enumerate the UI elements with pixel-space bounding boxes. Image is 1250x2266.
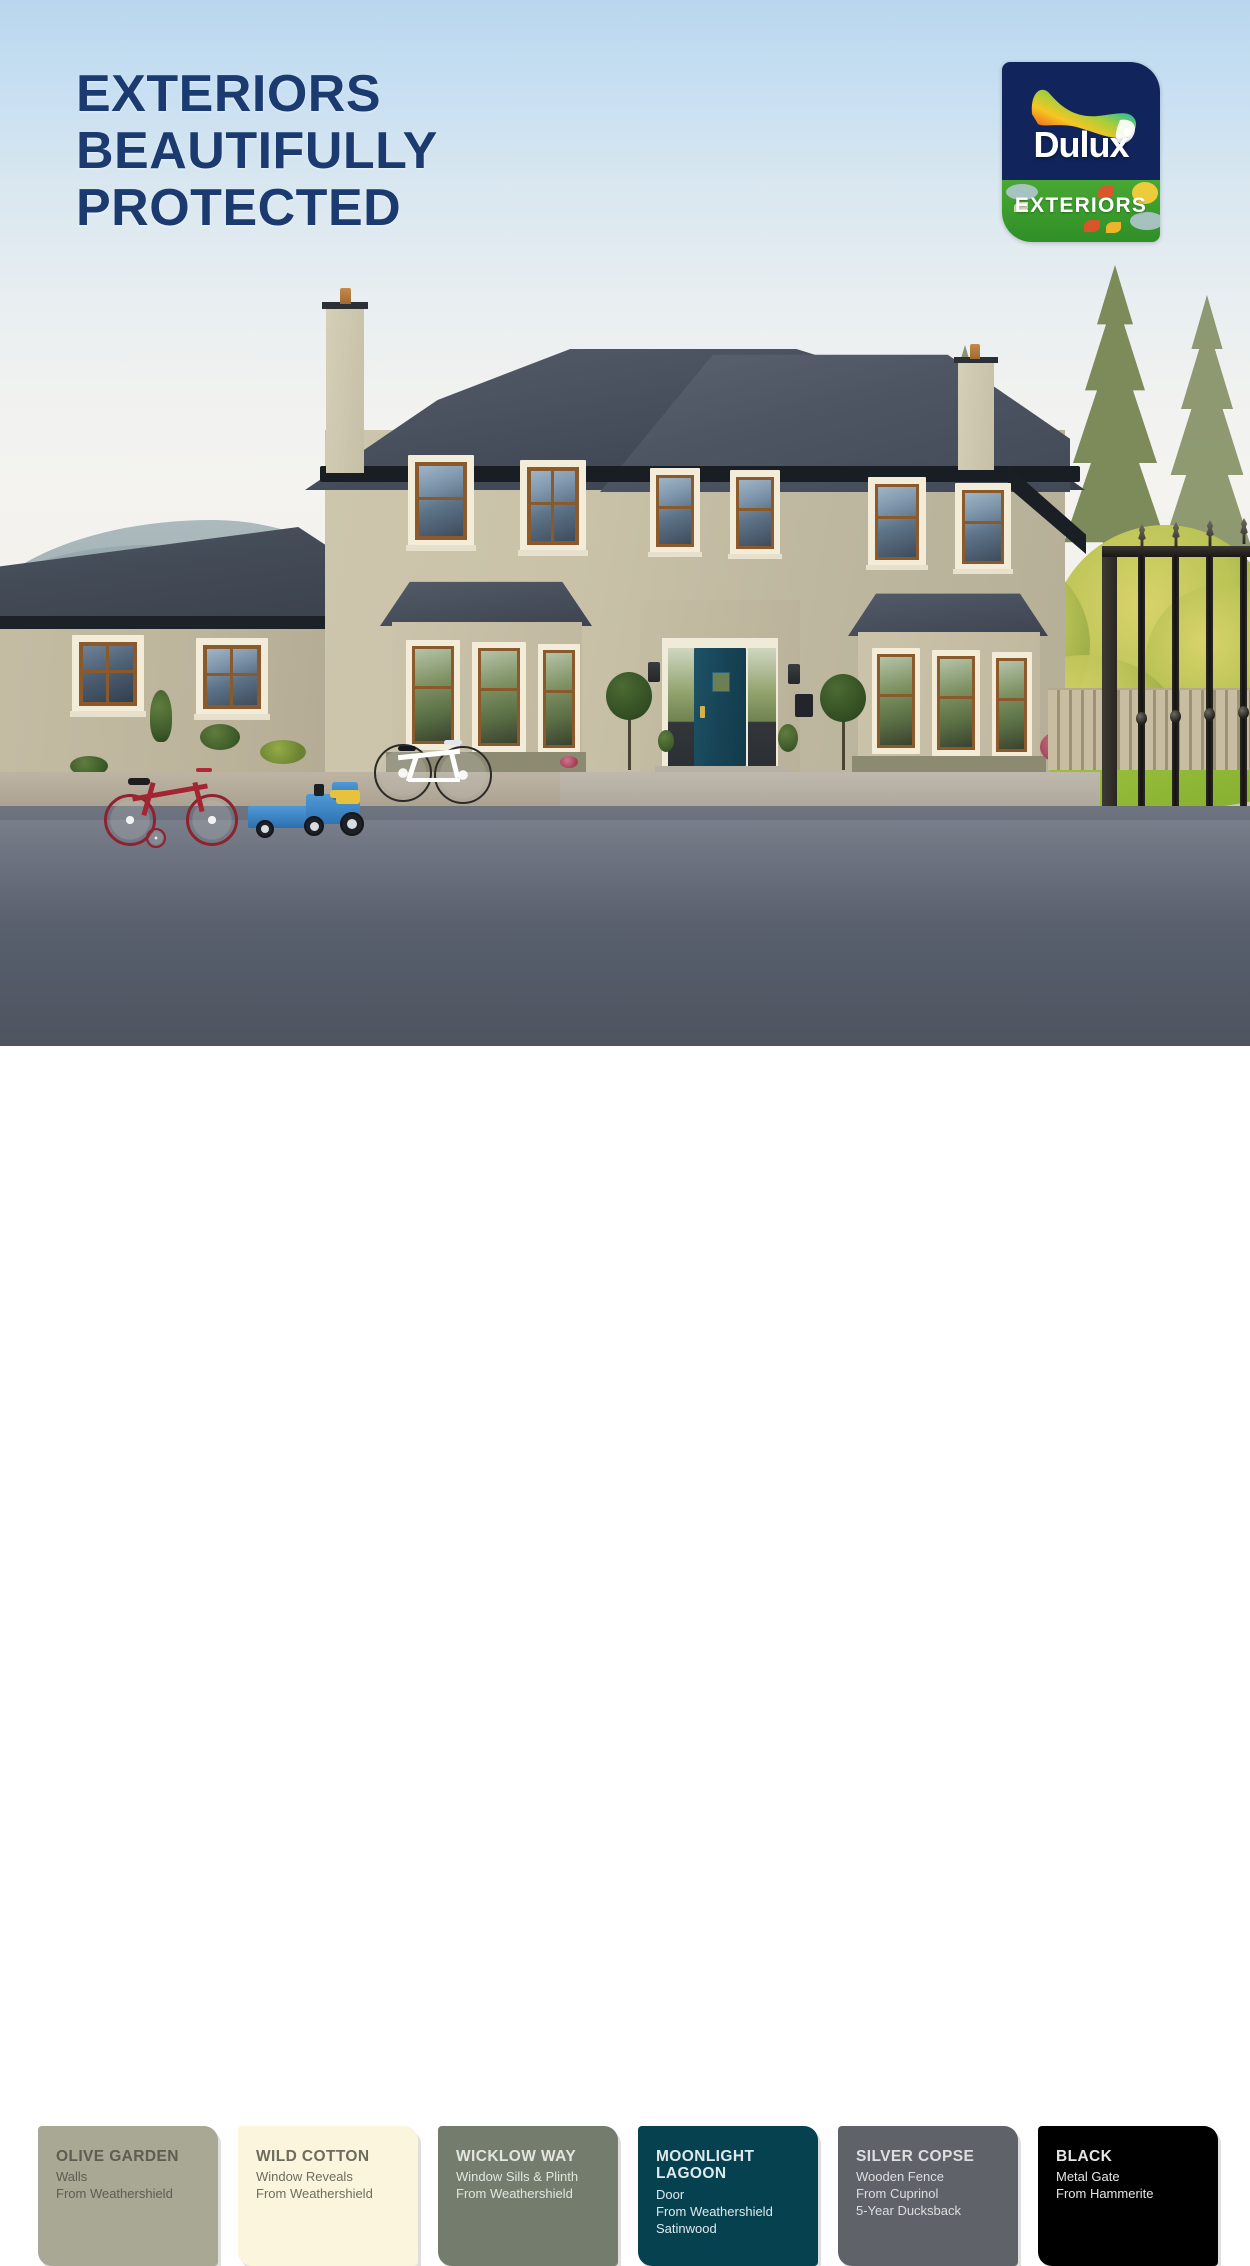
window-glass xyxy=(739,480,771,546)
hero-photo: EXTERIORS BEAUTIFULLY PROTECTED D xyxy=(0,0,1250,1046)
window-mullion xyxy=(551,471,554,541)
window-glass xyxy=(940,659,972,747)
window-mullion xyxy=(659,506,691,509)
training-wheel xyxy=(146,828,166,848)
window-glass xyxy=(415,649,451,741)
gate-knob xyxy=(1238,706,1249,719)
ground-shrub xyxy=(260,740,306,764)
letterbox xyxy=(795,694,813,717)
road-bike-saddle xyxy=(398,746,416,751)
driveway-highlight xyxy=(0,820,1250,930)
bay-roof-left xyxy=(380,578,592,626)
window-mullion xyxy=(940,696,972,699)
porch-lamp-right xyxy=(788,664,800,684)
swatch-name: MOONLIGHT LAGOON xyxy=(656,2148,818,2183)
chimney-right xyxy=(958,360,994,470)
swatch-detail: Walls xyxy=(56,2169,218,2186)
window-sill xyxy=(518,550,588,556)
window-mullion xyxy=(739,508,771,511)
gate-knob xyxy=(1170,710,1181,723)
colour-swatch-strip: OLIVE GARDEN Walls From Weathershield WI… xyxy=(0,1046,1250,1250)
bay-roof-right xyxy=(848,590,1048,636)
gate-finial xyxy=(1170,522,1182,548)
swatch-detail: Satinwood xyxy=(656,2221,818,2238)
swatch-detail: From Cuprinol xyxy=(856,2186,1018,2203)
window-sill xyxy=(953,569,1013,574)
window-mullion xyxy=(999,698,1024,701)
swatch-name: WICKLOW WAY xyxy=(456,2148,618,2165)
leaf-icon xyxy=(1084,220,1100,232)
door-sidelight-right xyxy=(748,648,776,766)
gate-finial xyxy=(1238,518,1250,544)
window-sill xyxy=(70,711,146,717)
swatch-detail: From Hammerite xyxy=(1056,2186,1218,2203)
swatch-detail: Wooden Fence xyxy=(856,2169,1018,2186)
toy-scoop xyxy=(336,790,360,804)
swatch-detail: From Weathershield xyxy=(456,2186,618,2203)
leaf-icon xyxy=(1106,222,1121,233)
window-mullion xyxy=(106,646,109,702)
window-glass xyxy=(880,657,912,745)
swatch-name: WILD COTTON xyxy=(256,2148,418,2165)
swatch-name: OLIVE GARDEN xyxy=(56,2148,218,2165)
window-mullion xyxy=(83,670,133,673)
gate-knob xyxy=(1136,712,1147,725)
window-sill xyxy=(194,714,270,720)
swatch-moonlight-lagoon[interactable]: MOONLIGHT LAGOON Door From Weathershield… xyxy=(638,2126,818,2266)
window-mullion xyxy=(880,694,912,697)
window-mullion xyxy=(207,673,257,676)
headline-line-1: EXTERIORS xyxy=(76,66,438,123)
swatch-detail: Window Reveals xyxy=(256,2169,418,2186)
gate-knob xyxy=(1204,708,1215,721)
swatch-olive-garden[interactable]: OLIVE GARDEN Walls From Weathershield xyxy=(38,2126,218,2266)
window-glass xyxy=(999,661,1024,749)
door-handle xyxy=(700,706,705,718)
flower-cluster xyxy=(560,756,578,768)
logo-wordmark: Dulux xyxy=(1002,124,1160,166)
tractor-seat xyxy=(314,784,324,796)
window-sill xyxy=(728,554,782,559)
bike-saddle xyxy=(128,778,150,785)
swatch-name: BLACK xyxy=(1056,2148,1218,2165)
logo-range-label: EXTERIORS xyxy=(1002,194,1160,218)
window-sill xyxy=(406,545,476,551)
window-mullion xyxy=(230,649,233,705)
tractor-hub xyxy=(347,819,357,829)
dulux-logo[interactable]: Dulux EXTERIORS xyxy=(1002,62,1160,242)
window-mullion xyxy=(965,521,1001,524)
window-glass xyxy=(546,653,572,745)
window-mullion xyxy=(546,690,572,693)
road-bike-handlebar xyxy=(444,740,462,745)
road-bike-chainstay xyxy=(408,778,460,782)
gate-finial xyxy=(1204,520,1216,546)
bike-wheel xyxy=(186,794,238,846)
swatch-detail: From Weathershield xyxy=(56,2186,218,2203)
left-wing-fascia xyxy=(0,616,352,629)
window-mullion xyxy=(878,516,916,519)
topiary-ball-left xyxy=(606,672,652,720)
swatch-name: SILVER COPSE xyxy=(856,2148,1018,2165)
swatch-detail: Metal Gate xyxy=(1056,2169,1218,2186)
trailer-hub xyxy=(261,825,269,833)
porch-lamp-left xyxy=(648,662,660,682)
small-shrub xyxy=(778,724,798,752)
chimney-left xyxy=(326,305,364,473)
page-headline: EXTERIORS BEAUTIFULLY PROTECTED xyxy=(76,66,438,238)
tractor-hub xyxy=(310,822,319,831)
swatch-detail: Window Sills & Plinth xyxy=(456,2169,618,2186)
window-glass xyxy=(965,493,1001,561)
window-mullion xyxy=(481,688,517,691)
conifer-shrub xyxy=(150,690,172,742)
window-glass xyxy=(878,487,916,557)
window-glass xyxy=(659,478,691,544)
swatch-wild-cotton[interactable]: WILD COTTON Window Reveals From Weathers… xyxy=(238,2126,418,2266)
window-glass xyxy=(419,466,463,536)
window-sill xyxy=(648,552,702,557)
topiary-ball-right xyxy=(820,674,866,722)
door-glass-panel xyxy=(712,672,730,692)
swatch-detail: From Weathershield xyxy=(656,2204,818,2221)
small-shrub xyxy=(658,730,674,752)
window-mullion xyxy=(531,502,575,505)
swatch-black[interactable]: BLACK Metal Gate From Hammerite xyxy=(1038,2126,1218,2266)
window-glass xyxy=(481,651,517,743)
swatch-detail: 5-Year Ducksback xyxy=(856,2203,1018,2220)
swatch-detail: From Weathershield xyxy=(256,2186,418,2203)
headline-line-2: BEAUTIFULLY xyxy=(76,123,438,180)
window-sill xyxy=(866,565,928,570)
topiary-stem xyxy=(628,712,631,770)
swatch-detail: Door xyxy=(656,2187,818,2204)
swatch-wicklow-way[interactable]: WICKLOW WAY Window Sills & Plinth From W… xyxy=(438,2126,618,2266)
bike-handlebar xyxy=(196,768,212,772)
topiary-stem xyxy=(842,714,845,770)
ground-shrub xyxy=(200,724,240,750)
swatch-silver-copse[interactable]: SILVER COPSE Wooden Fence From Cuprinol … xyxy=(838,2126,1018,2266)
chimney-pot xyxy=(340,288,351,304)
door-sidelight-left xyxy=(668,648,696,766)
chimney-pot xyxy=(970,344,980,359)
headline-line-3: PROTECTED xyxy=(76,180,438,237)
window-mullion xyxy=(415,686,451,689)
window-mullion xyxy=(419,497,463,500)
